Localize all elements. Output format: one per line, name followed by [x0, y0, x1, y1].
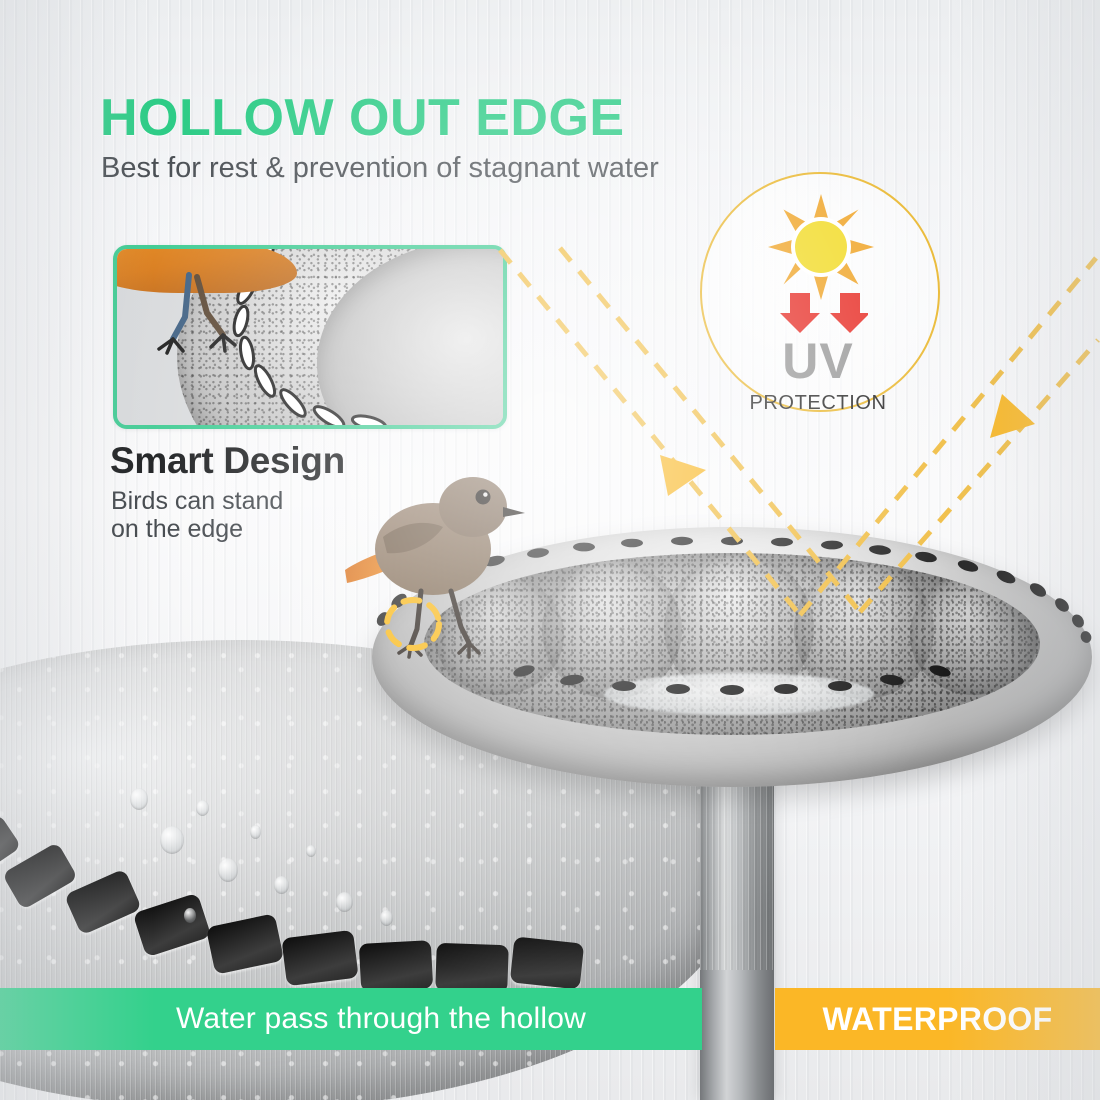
water-droplet: [380, 910, 393, 926]
closeup-hollow-slot: [435, 943, 509, 993]
bird-leg: [451, 591, 469, 643]
inset-photo-image: [117, 249, 503, 425]
incoming-ray-arrowhead: [660, 455, 706, 496]
closeup-hollow-slot: [281, 930, 358, 986]
smart-design-subtitle: Birds can stand on the edge: [111, 487, 361, 543]
water-droplet: [336, 892, 353, 912]
page-title: HOLLOW OUT EDGE: [100, 92, 800, 144]
water-droplet: [306, 845, 316, 857]
dashed-highlight-circle: [382, 596, 444, 652]
banner-water-pass: Water pass through the hollow: [0, 988, 702, 1050]
bird-foot: [459, 643, 479, 657]
page-subtitle: Best for rest & prevention of stagnant w…: [101, 152, 861, 185]
bird-head: [439, 477, 507, 537]
infographic-canvas: HOLLOW OUT EDGE Best for rest & preventi…: [0, 0, 1100, 1100]
closeup-hollow-slot: [510, 936, 584, 989]
red-down-arrow-icon: [780, 293, 820, 333]
bird-eye: [476, 490, 491, 505]
water-droplet: [160, 826, 184, 854]
closeup-hollow-slot: [359, 940, 433, 992]
uv-ray-down-arrows: [776, 291, 868, 335]
inset-bird-legs: [145, 255, 315, 375]
sun-icon: [766, 192, 876, 302]
protection-label: PROTECTION: [700, 392, 936, 415]
water-droplet: [130, 788, 148, 810]
water-droplet: [184, 908, 196, 923]
banner-waterproof: WATERPROOF: [775, 988, 1100, 1050]
bird-beak: [503, 507, 525, 517]
water-droplet: [250, 825, 261, 839]
banner-water-pass-label: Water pass through the hollow: [0, 988, 702, 1050]
water-droplet: [218, 858, 238, 882]
smart-design-inset-photo: [113, 245, 507, 429]
smart-design-title: Smart Design: [110, 440, 345, 482]
uv-label: UV: [700, 336, 936, 386]
pedestal-column-front: [700, 970, 774, 1100]
banner-waterproof-label: WATERPROOF: [775, 988, 1100, 1050]
water-droplet: [196, 800, 209, 816]
water-droplet: [274, 876, 289, 894]
reflected-ray-arrowhead: [990, 394, 1035, 438]
red-down-arrow-icon: [830, 293, 868, 333]
